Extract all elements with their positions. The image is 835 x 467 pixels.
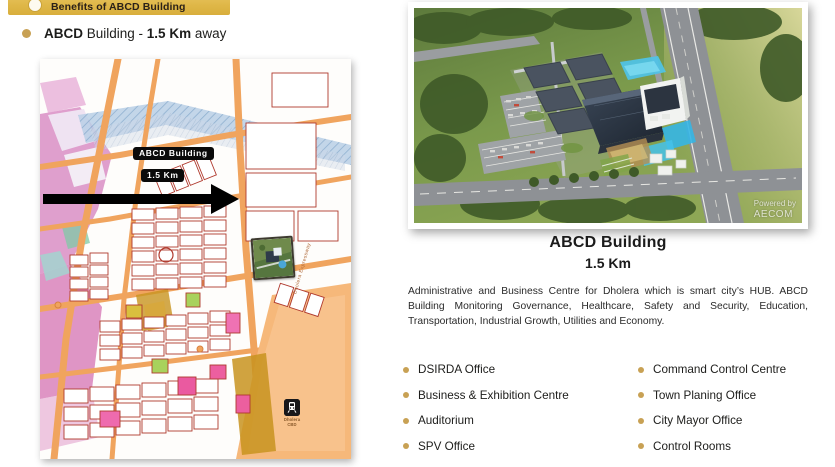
- feature-item[interactable]: DSIRDA Office: [403, 363, 638, 376]
- poi-label-line2: CBD: [287, 422, 296, 427]
- feature-label: Command Control Centre: [653, 363, 786, 376]
- watermark-prefix: Powered by: [754, 199, 796, 208]
- bullet-dot-icon: [638, 392, 644, 398]
- feature-item[interactable]: Business & Exhibition Centre: [403, 389, 638, 402]
- watermark-brand: AECOM: [754, 209, 796, 221]
- building-distance: 1.5 Km: [395, 255, 821, 271]
- poi-dholera-cbd[interactable]: Dholera CBD: [275, 399, 309, 428]
- bullet-dot-icon: [638, 443, 644, 449]
- aerial-render-image[interactable]: Powered by AECOM: [414, 8, 802, 223]
- lead-bullet-text: ABCD Building - 1.5 Km away: [44, 26, 226, 41]
- section-header-title: Benefits of ABCD Building: [51, 1, 186, 13]
- feature-label: City Mayor Office: [653, 414, 742, 427]
- feature-item[interactable]: Auditorium: [403, 414, 638, 427]
- circle-outline-icon: [28, 0, 42, 12]
- lead-suffix-text: away: [191, 26, 226, 41]
- building-site-thumbnail[interactable]: [251, 236, 296, 281]
- right-panel: Powered by AECOM ABCD Building 1.5 Km Ad…: [395, 0, 835, 467]
- bullet-dot-icon: [403, 367, 409, 373]
- bullet-dot-icon: [22, 29, 31, 38]
- feature-label: Business & Exhibition Centre: [418, 389, 569, 402]
- bullet-dot-icon: [403, 392, 409, 398]
- bullet-dot-icon: [638, 367, 644, 373]
- section-header-bar: Benefits of ABCD Building: [8, 0, 230, 15]
- building-title: ABCD Building: [395, 234, 821, 252]
- feature-label: Auditorium: [418, 414, 474, 427]
- feature-label: DSIRDA Office: [418, 363, 495, 376]
- poi-label: Dholera CBD: [275, 417, 309, 428]
- bullet-dot-icon: [403, 418, 409, 424]
- feature-item[interactable]: City Mayor Office: [638, 414, 833, 427]
- left-panel: Benefits of ABCD Building ABCD Building …: [0, 0, 395, 467]
- aerial-render-frame: Powered by AECOM: [408, 2, 808, 229]
- lead-bold-prefix: ABCD: [44, 26, 83, 41]
- feature-item[interactable]: Town Planing Office: [638, 389, 833, 402]
- lead-bullet-line: ABCD Building - 1.5 Km away: [22, 26, 226, 41]
- feature-item[interactable]: Command Control Centre: [638, 363, 833, 376]
- feature-list: DSIRDA Office Command Control Centre Bus…: [403, 357, 833, 459]
- feature-item[interactable]: Control Rooms: [638, 440, 833, 453]
- poi-label-line1: Dholera: [284, 417, 300, 422]
- arrow-right-icon: [43, 175, 248, 219]
- bullet-dot-icon: [638, 418, 644, 424]
- bullet-dot-icon: [403, 443, 409, 449]
- lead-bold-distance: 1.5 Km: [147, 26, 191, 41]
- building-description: Administrative and Business Centre for D…: [408, 285, 808, 330]
- feature-item[interactable]: SPV Office: [403, 440, 638, 453]
- feature-label: Town Planing Office: [653, 389, 756, 402]
- feature-label: Control Rooms: [653, 440, 731, 453]
- feature-label: SPV Office: [418, 440, 475, 453]
- location-map[interactable]: ABCD Building 1.5 Km: [40, 59, 351, 459]
- map-callout-building-name: ABCD Building: [133, 147, 214, 160]
- lead-mid-text: Building -: [83, 26, 147, 41]
- train-station-icon: [284, 399, 300, 416]
- watermark: Powered by AECOM: [754, 199, 796, 220]
